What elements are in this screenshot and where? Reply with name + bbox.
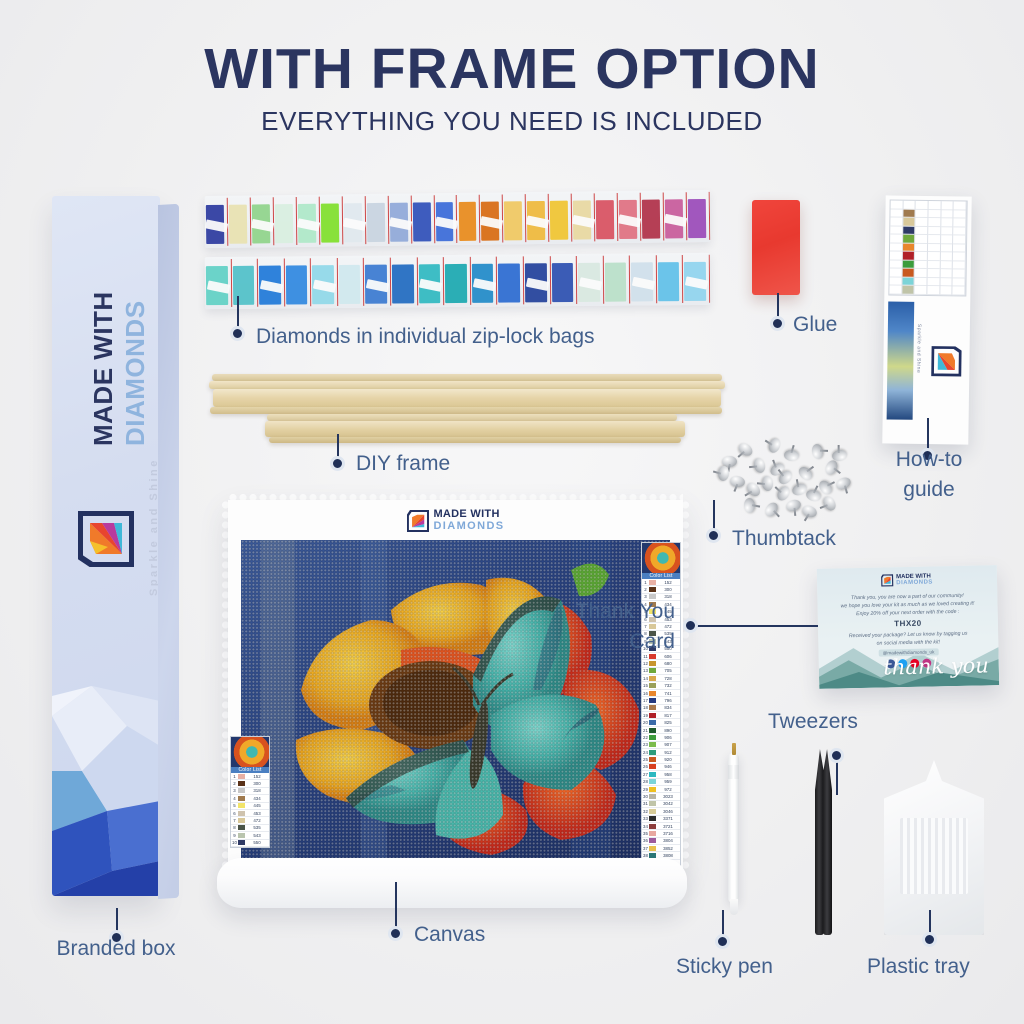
- zip-lock-bag: [497, 256, 524, 304]
- legend-row: 10550: [231, 840, 269, 847]
- guide-table-cell: [928, 227, 940, 236]
- zip-lock-bags-group: [205, 193, 710, 311]
- legend-row-code: 472: [656, 624, 680, 629]
- dot-plastic-tray: [922, 932, 937, 947]
- bag-beads: [445, 264, 467, 303]
- legend-row: 13705: [642, 668, 680, 675]
- guide-table-cell: [903, 235, 915, 244]
- guide-table-cell: [915, 261, 927, 270]
- canvas-sheet: MADE WITH DIAMONDS: [228, 500, 683, 870]
- legend-row-swatch: [649, 580, 656, 585]
- guide-table-cell: [929, 201, 941, 210]
- dot-tweezers: [829, 748, 844, 763]
- zip-lock-bag: [664, 192, 688, 240]
- legend-row: 26946: [642, 764, 680, 771]
- box-polygon-pattern: [52, 596, 160, 896]
- card-logo: MADE WITH DIAMONDS: [881, 573, 933, 586]
- guide-table-cell: [928, 252, 940, 261]
- legend-row-code: 907: [656, 742, 680, 747]
- legend-rows-right: 1152230033184434544564537472853595431055…: [642, 579, 680, 882]
- callout-thankyou-line1: Thank You: [560, 600, 675, 624]
- legend-row-swatch: [649, 676, 656, 681]
- zip-lock-bag: [526, 194, 550, 242]
- guide-table-cell: [890, 269, 902, 278]
- legend-row-swatch: [649, 757, 656, 762]
- legend-row-number: 2: [231, 781, 238, 786]
- legend-row-code: 680: [656, 661, 680, 666]
- canvas-edge-right: [682, 500, 689, 870]
- legend-row-code: 543: [245, 833, 269, 838]
- legend-row-number: 6: [231, 811, 238, 816]
- legend-row-code: 834: [656, 705, 680, 710]
- callout-thumbtack: Thumbtack: [732, 527, 836, 551]
- legend-row-code: 445: [245, 803, 269, 808]
- guide-color-table: [888, 199, 967, 296]
- legend-row-code: 959: [656, 779, 680, 784]
- page-title: WITH FRAME OPTION: [0, 36, 1024, 102]
- legend-row-code: 3371: [656, 816, 680, 821]
- dot-glue: [770, 316, 785, 331]
- guide-table-cell: [903, 201, 915, 210]
- legend-row-code: 906: [656, 735, 680, 740]
- legend-row-swatch: [649, 779, 656, 784]
- guide-table-cell: [916, 201, 928, 210]
- bag-beads: [605, 263, 627, 302]
- guide-table-cell: [903, 252, 915, 261]
- legend-row-number: 15: [642, 683, 649, 688]
- glue-square: [752, 200, 800, 295]
- guide-table-cell: [890, 260, 902, 269]
- bag-beads: [550, 201, 568, 240]
- legend-row: 8535: [231, 825, 269, 832]
- guide-table-cell: [953, 261, 965, 270]
- pen-tip: [732, 743, 736, 755]
- legend-row-swatch: [649, 668, 656, 673]
- guide-table-cell: [903, 218, 915, 227]
- guide-table-cell: [890, 243, 902, 252]
- legend-row: 21890: [642, 727, 680, 734]
- callout-howto-line1: How-to: [884, 448, 974, 472]
- callout-canvas: Canvas: [414, 923, 485, 947]
- legend-row-number: 31: [642, 801, 649, 806]
- legend-row-number: 7: [231, 818, 238, 823]
- legend-row: 363804: [642, 838, 680, 845]
- legend-row-swatch: [238, 818, 245, 823]
- zip-lock-bag: [572, 193, 596, 241]
- zip-lock-bag: [457, 195, 481, 243]
- legend-row-swatch: [649, 772, 656, 777]
- legend-row-swatch: [649, 720, 656, 725]
- legend-row-swatch: [238, 796, 245, 801]
- legend-row-number: 8: [231, 825, 238, 830]
- legend-rows-left: 1152230033184434544564537472853595431055…: [231, 773, 269, 847]
- zip-lock-bag: [364, 258, 391, 306]
- callout-diy-frame: DIY frame: [356, 452, 450, 476]
- legend-row-number: 11: [642, 654, 649, 659]
- guide-table-cell: [940, 261, 952, 270]
- leader-bags: [237, 296, 239, 330]
- guide-table-cell: [916, 218, 928, 227]
- legend-row: 18834: [642, 705, 680, 712]
- plastic-tray: [884, 760, 984, 935]
- legend-row-swatch: [649, 594, 656, 599]
- legend-row-swatch: [649, 846, 656, 851]
- guide-table-cell: [927, 278, 939, 287]
- legend-row: 1152: [642, 579, 680, 586]
- thumbtack-icon: [763, 500, 781, 519]
- guide-table-cell: [953, 253, 965, 262]
- thumbtack-icon: [752, 457, 767, 474]
- legend-row-swatch: [649, 654, 656, 659]
- legend-row-swatch: [238, 788, 245, 793]
- bag-beads: [596, 200, 614, 239]
- legend-row-number: 33: [642, 816, 649, 821]
- guide-table-cell: [890, 226, 902, 235]
- legend-row: 3318: [231, 788, 269, 795]
- legend-row: 5445: [231, 803, 269, 810]
- thumbtack-icon: [811, 443, 825, 460]
- legend-row-number: 25: [642, 757, 649, 762]
- diy-frame-group: [207, 372, 727, 448]
- legend-row-swatch: [238, 840, 245, 845]
- legend-thumbnail: [642, 543, 680, 573]
- guide-table-cell: [941, 210, 953, 219]
- legend-row: 373852: [642, 845, 680, 852]
- zip-lock-bag: [391, 257, 418, 305]
- guide-table-cell: [941, 201, 953, 210]
- zip-lock-bag: [687, 192, 711, 240]
- legend-row-code: 3804: [656, 838, 680, 843]
- legend-row-number: 16: [642, 691, 649, 696]
- bag-beads: [232, 266, 254, 305]
- guide-table-cell: [903, 243, 915, 252]
- guide-table-cell: [915, 252, 927, 261]
- callout-tweezers: Tweezers: [768, 710, 858, 734]
- legend-row-swatch: [649, 764, 656, 769]
- guide-table-cell: [891, 200, 903, 209]
- bag-row-top: [205, 190, 711, 248]
- legend-row-swatch: [649, 824, 656, 829]
- callout-howto-line2: guide: [884, 478, 974, 502]
- legend-row-swatch: [649, 742, 656, 747]
- legend-row: 28959: [642, 779, 680, 786]
- legend-row-number: 5: [231, 803, 238, 808]
- zip-lock-bag: [683, 255, 710, 303]
- canvas-logo-line2: DIAMONDS: [433, 521, 504, 533]
- thumbtack-icon: [805, 488, 822, 503]
- zip-lock-bag: [388, 196, 412, 244]
- legend-row-number: 13: [642, 668, 649, 673]
- diamond-mosaic-texture: [241, 540, 670, 858]
- legend-row-code: 920: [656, 757, 680, 762]
- pen-bottom-cap: [730, 899, 738, 915]
- dot-diy-frame: [330, 456, 345, 471]
- callout-sticky-pen: Sticky pen: [676, 955, 773, 979]
- zip-lock-bag: [365, 196, 389, 244]
- legend-row-code: 3023: [656, 794, 680, 799]
- sticky-pen: [727, 735, 740, 915]
- legend-row-swatch: [238, 833, 245, 838]
- legend-row-swatch: [649, 735, 656, 740]
- zip-lock-bag: [342, 196, 366, 244]
- guide-table-cell: [928, 210, 940, 219]
- callout-glue: Glue: [793, 313, 837, 337]
- guide-side-text: Sparkle and Shine: [915, 324, 922, 373]
- zip-lock-bag: [550, 256, 577, 304]
- legend-row: 7472: [231, 817, 269, 824]
- callout-branded-box: Branded box: [56, 936, 176, 962]
- legend-row: 17796: [642, 697, 680, 704]
- infographic-canvas: WITH FRAME OPTION EVERYTHING YOU NEED IS…: [0, 0, 1024, 1024]
- legend-row-swatch: [649, 794, 656, 799]
- guide-table-cell: [915, 235, 927, 244]
- guide-table-cell: [941, 244, 953, 253]
- legend-row-code: 152: [245, 774, 269, 779]
- zip-lock-bag: [258, 259, 285, 307]
- legend-row-swatch: [649, 838, 656, 843]
- bag-beads: [339, 265, 361, 304]
- legend-row-number: 37: [642, 846, 649, 851]
- zip-lock-bag: [274, 197, 298, 245]
- legend-row-code: 3721: [656, 824, 680, 829]
- legend-row-swatch: [238, 825, 245, 830]
- legend-row: 15732: [642, 682, 680, 689]
- legend-row-swatch: [649, 691, 656, 696]
- card-discount-code: THX20: [894, 619, 922, 629]
- bag-beads: [642, 200, 660, 239]
- legend-row-swatch: [649, 816, 656, 821]
- dot-canvas: [388, 926, 403, 941]
- thumbtack-icon: [744, 498, 755, 513]
- thank-you-card: MADE WITH DIAMONDS Thank you, you are no…: [817, 565, 999, 689]
- card-logo-line2: DIAMONDS: [896, 579, 933, 586]
- legend-row: 23907: [642, 742, 680, 749]
- zip-lock-bag: [205, 198, 229, 246]
- legend-row-swatch: [649, 698, 656, 703]
- thumbtack-icon: [801, 504, 819, 519]
- zip-lock-bag: [417, 257, 444, 305]
- guide-table-cell: [890, 235, 902, 244]
- legend-thumbnail-left: [231, 737, 269, 767]
- guide-table-cell: [928, 244, 940, 253]
- guide-table-cell: [902, 278, 914, 287]
- thumbtack-icon: [761, 475, 774, 491]
- legend-row-code: 535: [245, 825, 269, 830]
- legend-row-code: 946: [656, 764, 680, 769]
- zip-lock-bag: [297, 197, 321, 245]
- guide-table-cell: [954, 227, 966, 236]
- box-brand-line1: MADE WITH: [88, 291, 119, 446]
- legend-row-number: 22: [642, 735, 649, 740]
- bag-beads: [392, 264, 414, 303]
- thumbtack-pile: [712, 438, 852, 524]
- guide-table-cell: [889, 286, 901, 295]
- legend-row-code: 3852: [656, 846, 680, 851]
- legend-row: 1152: [231, 773, 269, 780]
- bag-beads: [498, 263, 520, 302]
- legend-row-swatch: [238, 803, 245, 808]
- legend-row-swatch: [649, 831, 656, 836]
- guide-table-cell: [940, 278, 952, 287]
- color-list-legend-left: Color List 11522300331844345445645374728…: [230, 736, 270, 848]
- legend-row: 9543: [231, 832, 269, 839]
- bag-beads: [286, 265, 308, 304]
- legend-row-swatch: [649, 661, 656, 666]
- legend-row-number: 27: [642, 772, 649, 777]
- zip-lock-bag: [524, 256, 551, 304]
- legend-row-swatch: [649, 809, 656, 814]
- thumbtack-icon: [729, 475, 746, 488]
- guide-table-cell: [928, 218, 940, 227]
- legend-row: 19817: [642, 712, 680, 719]
- legend-row-number: 9: [231, 833, 238, 838]
- guide-table-column: [953, 201, 967, 295]
- legend-row: 303023: [642, 793, 680, 800]
- bag-beads: [366, 203, 384, 242]
- legend-row-code: 318: [245, 788, 269, 793]
- guide-table-cell: [903, 209, 915, 218]
- legend-row: 22906: [642, 734, 680, 741]
- thumbtack-icon: [834, 475, 852, 492]
- page-subtitle: EVERYTHING YOU NEED IS INCLUDED: [0, 106, 1024, 137]
- legend-row-number: 14: [642, 676, 649, 681]
- canvas-logo: MADE WITH DIAMONDS: [406, 509, 504, 532]
- legend-row-swatch: [649, 713, 656, 718]
- guide-table-cell: [927, 286, 939, 295]
- legend-row-code: 3716: [656, 831, 680, 836]
- legend-row-code: 817: [656, 713, 680, 718]
- legend-row: 27958: [642, 771, 680, 778]
- printed-canvas: MADE WITH DIAMONDS: [228, 500, 683, 870]
- guide-table-cell: [889, 277, 901, 286]
- tray-grooves: [900, 818, 968, 894]
- legend-row-swatch: [649, 587, 656, 592]
- legend-row-number: 21: [642, 728, 649, 733]
- zip-lock-bag: [231, 259, 258, 307]
- legend-row: 29972: [642, 786, 680, 793]
- tweezers: [806, 745, 840, 935]
- guide-table-cell: [915, 278, 927, 287]
- guide-table-cell: [953, 244, 965, 253]
- zip-lock-bag: [549, 194, 573, 242]
- card-logo-icon: [881, 574, 893, 586]
- bag-row-bottom: [205, 253, 710, 309]
- legend-row-swatch: [238, 774, 245, 779]
- legend-row-number: 32: [642, 809, 649, 814]
- zip-lock-bag: [285, 258, 312, 306]
- zip-lock-bag: [434, 195, 458, 243]
- guide-table-cell: [953, 287, 965, 296]
- thumbtack-icon: [821, 494, 838, 513]
- legend-row-number: 4: [231, 796, 238, 801]
- legend-row-code: 728: [656, 676, 680, 681]
- zip-lock-bag: [577, 256, 604, 304]
- zip-lock-bag: [205, 259, 232, 307]
- box-front-face: MADE WITH DIAMONDS Sparkle and Shine: [52, 196, 160, 896]
- legend-row-number: 28: [642, 779, 649, 784]
- guide-table-cell: [902, 260, 914, 269]
- leader-thankyou: [688, 625, 818, 627]
- dot-sticky-pen: [715, 934, 730, 949]
- guide-table-cell: [940, 270, 952, 279]
- guide-logo-icon: [931, 346, 961, 376]
- zip-lock-bag: [657, 255, 684, 303]
- guide-table-cell: [890, 252, 902, 261]
- guide-table-cell: [916, 226, 928, 235]
- bag-beads: [275, 204, 293, 243]
- legend-row-code: 825: [656, 720, 680, 725]
- legend-row-number: 3: [642, 594, 649, 599]
- legend-row-number: 17: [642, 698, 649, 703]
- dot-bags: [230, 326, 245, 341]
- bag-beads: [658, 262, 680, 301]
- legend-row-swatch: [238, 811, 245, 816]
- guide-table-cell: [941, 235, 953, 244]
- branded-box: MADE WITH DIAMONDS Sparkle and Shine: [52, 196, 180, 908]
- legend-row-number: 1: [231, 774, 238, 779]
- tweezer-arm-left: [815, 749, 824, 935]
- guide-table-cell: [940, 287, 952, 296]
- guide-table-cell: [903, 226, 915, 235]
- guide-table-cell: [953, 270, 965, 279]
- box-side-face: [158, 204, 179, 899]
- legend-row-number: 19: [642, 713, 649, 718]
- zip-lock-bag: [471, 257, 498, 305]
- zip-lock-bag: [641, 192, 665, 240]
- legend-row: 6453: [231, 810, 269, 817]
- zip-lock-bag: [338, 258, 365, 306]
- legend-row-code: 152: [656, 580, 680, 585]
- guide-table-cell: [928, 269, 940, 278]
- legend-row-swatch: [649, 705, 656, 710]
- legend-row: 16741: [642, 690, 680, 697]
- legend-row-number: 26: [642, 764, 649, 769]
- legend-row-swatch: [649, 750, 656, 755]
- legend-row-code: 958: [656, 772, 680, 777]
- guide-table-cell: [915, 286, 927, 295]
- leader-canvas: [395, 882, 397, 930]
- legend-row-number: 36: [642, 838, 649, 843]
- tweezer-arm-right: [823, 749, 832, 935]
- zip-lock-bag: [503, 194, 527, 242]
- legend-row: 323046: [642, 808, 680, 815]
- thumbtack-icon: [784, 449, 800, 461]
- legend-row-code: 3042: [656, 801, 680, 806]
- zip-lock-bag: [603, 255, 630, 303]
- pen-grip: [728, 765, 739, 779]
- legend-row: 14728: [642, 675, 680, 682]
- legend-row-number: 34: [642, 824, 649, 829]
- zip-lock-bag: [311, 258, 338, 306]
- guide-table-cell: [928, 261, 940, 270]
- guide-table-cell: [902, 269, 914, 278]
- bag-beads: [688, 199, 706, 238]
- legend-row-number: 2: [642, 587, 649, 592]
- guide-table-cell: [941, 252, 953, 261]
- legend-row: 12680: [642, 660, 680, 667]
- legend-row-swatch: [649, 683, 656, 688]
- callout-bags: Diamonds in individual zip-lock bags: [256, 325, 595, 349]
- legend-row: 24912: [642, 749, 680, 756]
- thumbtack-icon: [717, 466, 729, 482]
- legend-row-code: 472: [245, 818, 269, 823]
- color-list-legend-right: Color List 11522300331844345445645374728…: [641, 542, 681, 883]
- guide-table-cell: [928, 235, 940, 244]
- bag-beads: [412, 202, 430, 241]
- dot-thankyou: [683, 618, 698, 633]
- legend-row-code: 890: [656, 728, 680, 733]
- legend-row-code: 606: [656, 654, 680, 659]
